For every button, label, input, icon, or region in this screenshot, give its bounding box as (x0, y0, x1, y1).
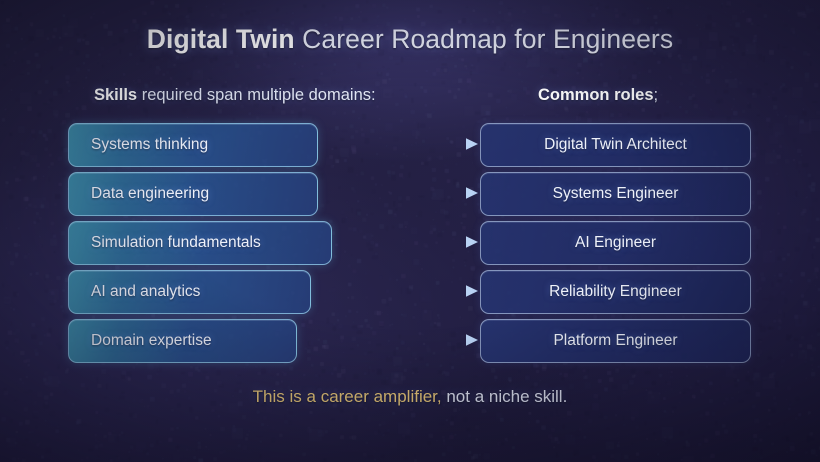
skill-box-label: AI and analytics (91, 283, 200, 301)
role-box-reliability-engineer[interactable]: Reliability Engineer (480, 270, 751, 314)
role-box-digital-twin-architect[interactable]: Digital Twin Architect (480, 123, 751, 167)
role-box-label: Digital Twin Architect (544, 136, 687, 154)
skill-box-label: Data engineering (91, 185, 209, 203)
role-box-systems-engineer[interactable]: Systems Engineer (480, 172, 751, 216)
skills-heading-rest: required span multiple domains: (137, 86, 375, 104)
skill-box-systems-thinking[interactable]: Systems thinking (68, 123, 318, 167)
arrow-domain-expertise-to-platform-engineer (306, 333, 480, 347)
skill-box-data-engineering[interactable]: Data engineering (68, 172, 318, 216)
roles-heading-rest: ; (654, 86, 659, 104)
arrow-simulation-fundamentals-to-ai-engineer (336, 235, 480, 249)
skill-box-label: Simulation fundamentals (91, 234, 261, 252)
role-box-label: Systems Engineer (553, 185, 679, 203)
footer-plain-text: not a niche skill. (442, 387, 568, 406)
skill-box-domain-expertise[interactable]: Domain expertise (68, 319, 297, 363)
roles-heading-highlight: Common roles (538, 86, 654, 104)
skill-box-label: Systems thinking (91, 136, 208, 154)
role-box-platform-engineer[interactable]: Platform Engineer (480, 319, 751, 363)
roles-column-heading: Common roles; (538, 86, 658, 105)
footer-tagline: This is a career amplifier, not a niche … (0, 387, 820, 407)
role-box-label: Platform Engineer (553, 332, 677, 350)
page-title: Digital Twin Career Roadmap for Engineer… (0, 24, 820, 55)
arrow-ai-and-analytics-to-reliability-engineer (320, 284, 480, 298)
skills-heading-highlight: Skills (94, 86, 137, 104)
skill-box-ai-and-analytics[interactable]: AI and analytics (68, 270, 311, 314)
skill-box-simulation-fundamentals[interactable]: Simulation fundamentals (68, 221, 332, 265)
role-box-label: AI Engineer (575, 234, 656, 252)
slide-canvas: Digital Twin Career Roadmap for Engineer… (0, 0, 820, 462)
arrow-systems-thinking-to-digital-twin-architect (330, 137, 480, 151)
skills-column-heading: Skills required span multiple domains: (94, 86, 376, 105)
page-title-highlight: Digital Twin (147, 24, 295, 54)
role-box-ai-engineer[interactable]: AI Engineer (480, 221, 751, 265)
footer-accent-text: This is a career amplifier, (253, 387, 442, 406)
role-box-label: Reliability Engineer (549, 283, 682, 301)
skill-box-label: Domain expertise (91, 332, 212, 350)
page-title-rest: Career Roadmap for Engineers (295, 24, 674, 54)
arrow-data-engineering-to-systems-engineer (330, 186, 480, 200)
